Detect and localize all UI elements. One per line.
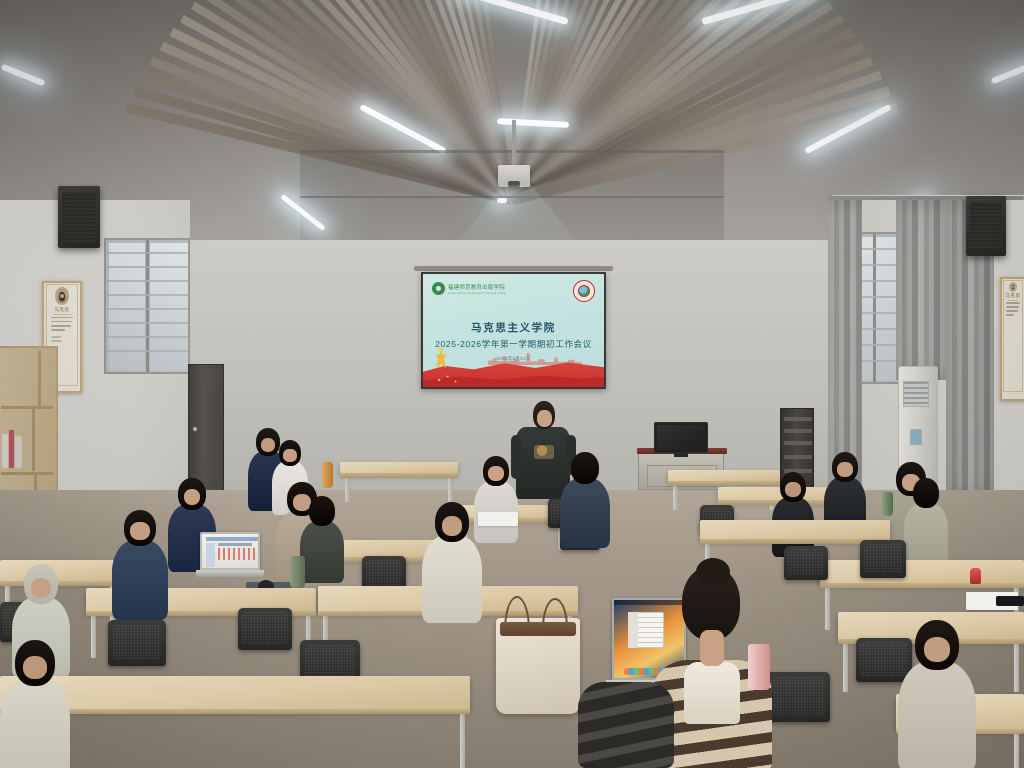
attendee-body xyxy=(904,503,948,565)
door-knob[interactable] xyxy=(193,427,197,431)
org-logo-icon xyxy=(432,282,445,295)
poster-name-label: 马克思 xyxy=(1005,293,1020,299)
water-bottle-pink[interactable] xyxy=(748,644,770,690)
screen-mount-rod xyxy=(414,266,613,271)
chair[interactable] xyxy=(784,546,828,580)
red-desk-object xyxy=(970,568,981,584)
tote-bag[interactable] xyxy=(496,618,580,714)
ac-display-panel[interactable] xyxy=(910,429,922,445)
thermos-green[interactable] xyxy=(882,492,893,516)
backpack xyxy=(578,682,674,768)
desk-leg xyxy=(448,474,453,502)
desk-leg xyxy=(825,584,830,630)
desk[interactable] xyxy=(340,462,458,474)
attendee xyxy=(898,620,976,768)
desk-leg xyxy=(1014,640,1019,692)
projector-icon xyxy=(498,165,530,187)
attendee-head xyxy=(571,452,599,484)
chair[interactable] xyxy=(238,608,292,650)
ceiling-seam xyxy=(300,196,724,198)
classroom-photo: 马克思 马克思 xyxy=(0,0,1024,768)
desk[interactable] xyxy=(820,560,1024,584)
curtain-right-mid[interactable] xyxy=(896,200,948,380)
projection-screen: 福建师范教育出版学院 Fujian Normal Vocational & Te… xyxy=(421,272,606,389)
attendee-face xyxy=(442,516,462,536)
desk-leg xyxy=(91,612,96,658)
paper-documents xyxy=(478,512,518,526)
slide-org-logo: 福建师范教育出版学院 Fujian Normal Vocational & Te… xyxy=(432,282,507,295)
attendee-face xyxy=(31,578,51,598)
attendee-face xyxy=(23,656,47,679)
slide-figure-graphic xyxy=(433,346,449,376)
org-name-cn: 福建师范教育出版学院 xyxy=(448,283,507,291)
chair-mesh xyxy=(366,560,403,588)
slide-title: 马克思主义学院 xyxy=(423,320,604,335)
chair-mesh xyxy=(242,612,287,645)
attendee xyxy=(0,640,70,768)
podium-monitor[interactable] xyxy=(654,422,708,453)
chair-mesh xyxy=(771,677,825,716)
attendee-body xyxy=(898,661,976,768)
tote-leather-trim xyxy=(500,622,576,636)
projector-lens xyxy=(508,181,520,187)
attendee-body xyxy=(112,540,168,620)
attendee-body xyxy=(300,521,344,583)
attendee-head xyxy=(913,478,939,508)
ac-vent xyxy=(903,381,929,407)
laptop-doc-header xyxy=(206,537,258,541)
chair[interactable] xyxy=(108,620,166,666)
desk[interactable] xyxy=(0,676,470,710)
poster-quote xyxy=(51,317,74,342)
desk-edge xyxy=(820,583,1024,588)
presenter-face xyxy=(537,410,552,427)
attendee xyxy=(300,496,344,588)
classroom-door[interactable] xyxy=(188,364,224,494)
desk[interactable] xyxy=(668,470,780,482)
projector-mount-rod xyxy=(512,120,516,168)
attendee-face xyxy=(283,449,296,462)
school-seal-icon xyxy=(573,280,595,302)
chair-mesh xyxy=(864,544,903,574)
attendee-face xyxy=(785,482,801,497)
poster-name-label: 马克思 xyxy=(54,307,69,313)
ceiling-light-10 xyxy=(497,198,507,203)
attendee-head xyxy=(309,496,335,526)
slide-subtitle: 2025-2026学年第一学期期初工作会议 xyxy=(423,338,604,350)
attendee xyxy=(560,452,610,554)
monitor-screen xyxy=(657,425,705,450)
attendee-body xyxy=(0,678,70,768)
chair-mesh xyxy=(788,549,825,576)
attendee-face xyxy=(488,466,504,481)
org-name-en: Fujian Normal Vocational & Technical Col… xyxy=(448,292,507,295)
attendee xyxy=(422,502,482,630)
poster-quote xyxy=(1006,302,1019,316)
desk-edge xyxy=(0,709,470,714)
ceiling-light-6 xyxy=(1,64,46,87)
attendee-face xyxy=(924,637,950,662)
chair-mesh xyxy=(113,625,162,661)
attendee-face xyxy=(837,462,853,477)
attendee-tanktop xyxy=(684,662,740,724)
desk-edge xyxy=(668,481,780,486)
desk-leg xyxy=(1014,730,1019,768)
desk-leg xyxy=(460,710,465,768)
marx-portrait-icon xyxy=(55,287,69,304)
laptop-base xyxy=(196,570,264,577)
desk-edge xyxy=(340,473,458,478)
smartphone[interactable] xyxy=(996,596,1024,606)
laptop-windows[interactable] xyxy=(196,532,264,578)
ceiling-light-7 xyxy=(991,62,1024,85)
laptop-doc-text xyxy=(218,543,252,546)
attendee xyxy=(112,510,168,626)
attendee-face xyxy=(184,489,201,505)
attendee-face xyxy=(130,522,149,540)
laptop-screen xyxy=(200,532,260,570)
attendee-hair-bun xyxy=(696,558,730,586)
desk-leg xyxy=(843,640,848,692)
attendee-neck xyxy=(700,630,724,666)
laptop-doc-chart xyxy=(218,548,256,560)
laptop-doc-sidebar xyxy=(206,543,215,567)
left-window xyxy=(104,238,190,374)
wall-speaker-right xyxy=(966,196,1006,256)
chair[interactable] xyxy=(860,540,906,578)
desk-leg xyxy=(345,474,350,502)
attendee-body xyxy=(560,478,610,548)
presenter-graphic xyxy=(534,445,554,459)
marx-poster-right: 马克思 xyxy=(1000,277,1024,401)
desk-leg xyxy=(673,482,678,510)
thermos-green-2[interactable] xyxy=(290,556,305,588)
chair[interactable] xyxy=(766,672,830,722)
attendee-body xyxy=(422,535,482,623)
macos-notes-sidebar xyxy=(628,612,638,648)
wall-speaker-left xyxy=(58,186,100,248)
marx-portrait-icon xyxy=(1009,282,1017,292)
attendee xyxy=(904,478,948,570)
desk[interactable] xyxy=(700,520,890,540)
